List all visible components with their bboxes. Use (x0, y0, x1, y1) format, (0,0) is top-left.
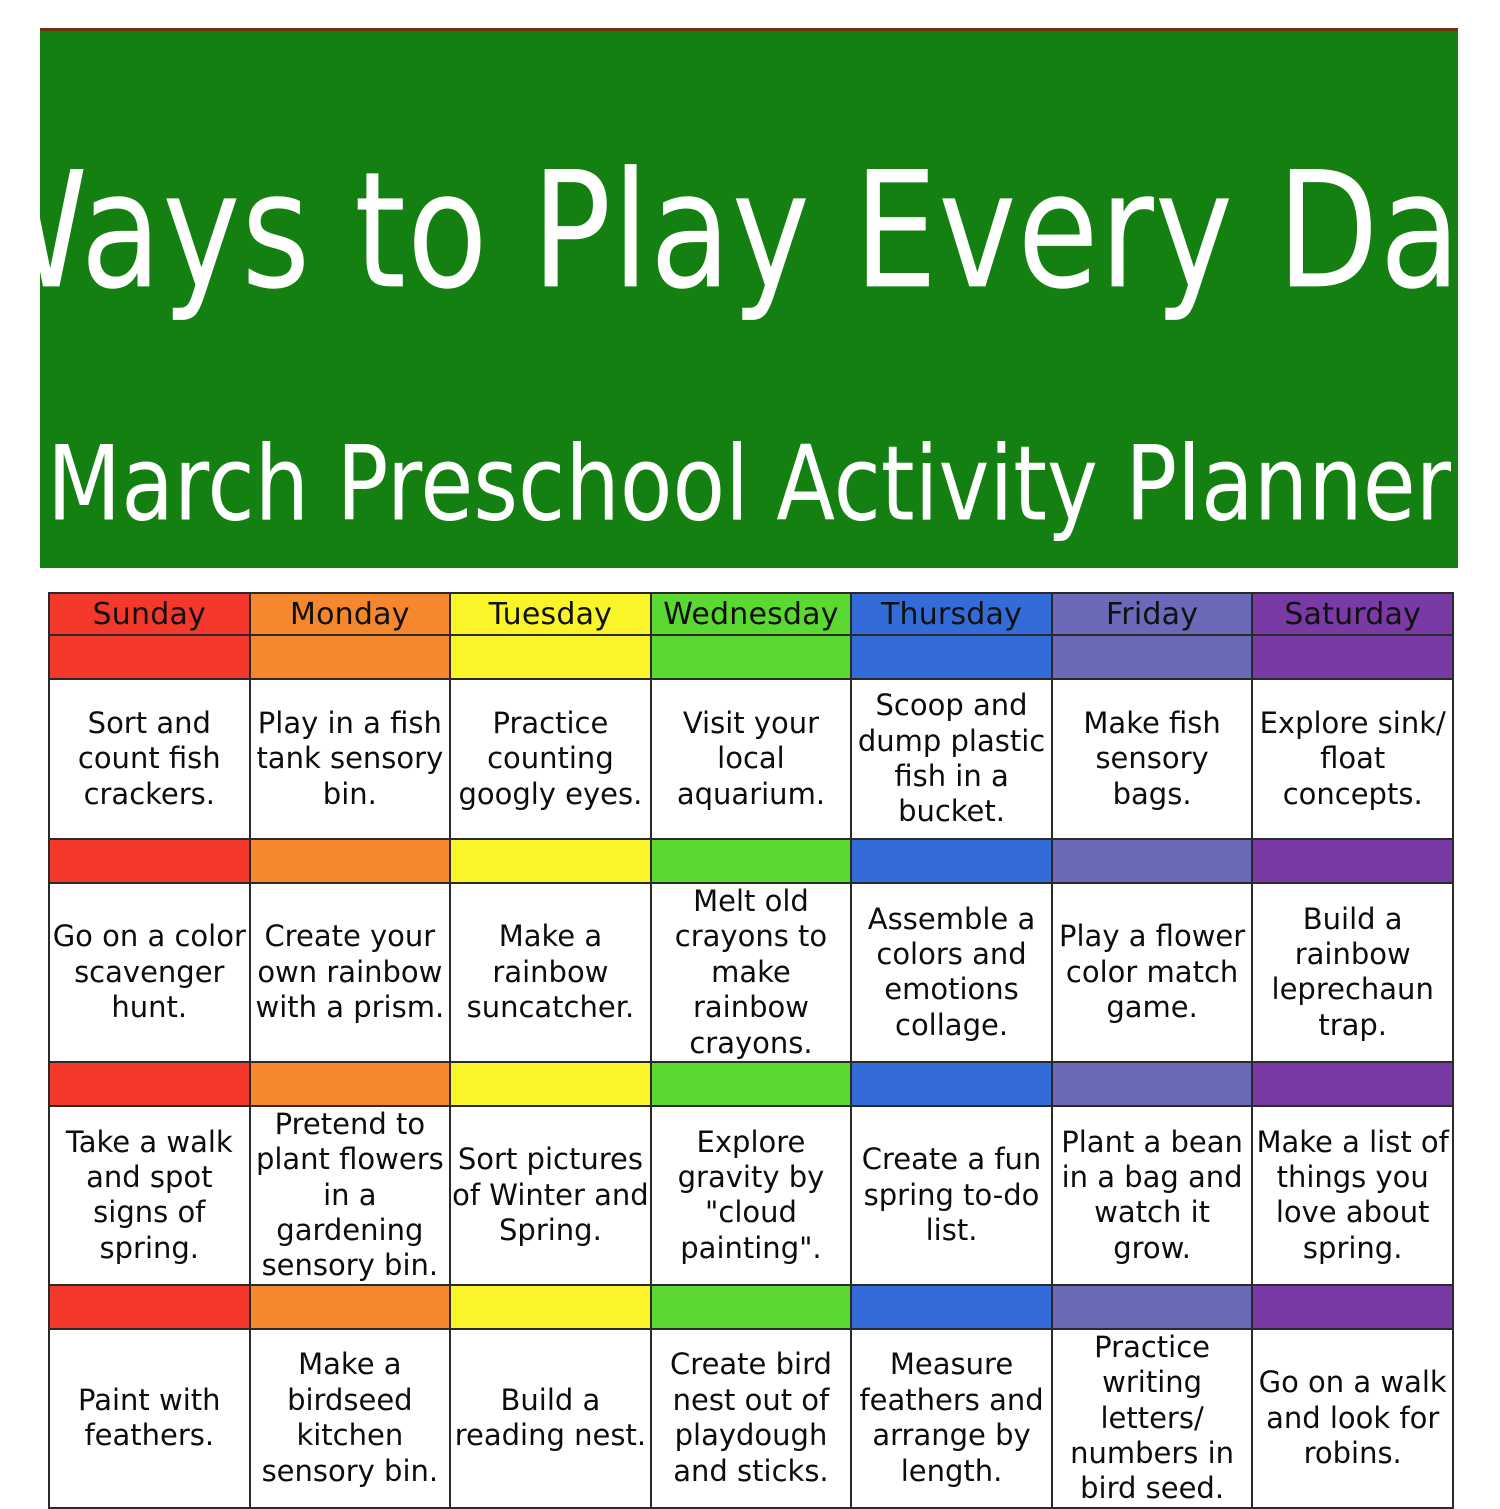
activity-text: Build a reading nest. (451, 1383, 650, 1454)
day-header-label: Tuesday (489, 597, 612, 632)
activity-cell[interactable]: Practice writing letters/ numbers in bir… (1052, 1329, 1253, 1508)
color-band-cell-sunday (49, 839, 250, 883)
activity-text: Explore sink/ float concepts. (1253, 706, 1452, 812)
activity-text: Build a rainbow leprechaun trap. (1253, 902, 1452, 1044)
activity-cell[interactable]: Scoop and dump plastic fish in a bucket. (851, 679, 1052, 839)
activity-text: Sort pictures of Winter and Spring. (451, 1142, 650, 1248)
activity-cell[interactable]: Explore sink/ float concepts. (1252, 679, 1453, 839)
activity-text: Make a rainbow suncatcher. (451, 919, 650, 1025)
activity-cell[interactable]: Build a reading nest. (450, 1329, 651, 1508)
activity-cell[interactable]: Make a birdseed kitchen sensory bin. (250, 1329, 451, 1508)
page-subtitle: March Preschool Activity Planner (47, 433, 1451, 536)
activity-calendar: SundayMondayTuesdayWednesdayThursdayFrid… (48, 592, 1454, 1509)
activity-text: Assemble a colors and emotions collage. (852, 902, 1051, 1044)
color-band-cell-friday (1052, 839, 1253, 883)
activity-text: Visit your local aquarium. (652, 706, 851, 812)
day-header-label: Saturday (1284, 597, 1421, 632)
color-band-cell-thursday (851, 839, 1052, 883)
color-band-cell-monday (250, 1062, 451, 1106)
activity-text: Create your own rainbow with a prism. (251, 919, 450, 1025)
color-band-cell-monday (250, 1285, 451, 1329)
color-band-cell-tuesday (450, 1285, 651, 1329)
activity-text: Pretend to plant flowers in a gardening … (251, 1107, 450, 1284)
day-header-label: Monday (290, 597, 410, 632)
activity-cell[interactable]: Explore gravity by "cloud painting". (651, 1106, 852, 1285)
color-band-cell-friday (1052, 635, 1253, 679)
activity-text: Plant a bean in a bag and watch it grow. (1053, 1125, 1252, 1267)
color-band-cell-tuesday (450, 839, 651, 883)
activity-cell[interactable]: Plant a bean in a bag and watch it grow. (1052, 1106, 1253, 1285)
activity-text: Play in a fish tank sensory bin. (251, 706, 450, 812)
activity-cell[interactable]: Make a rainbow suncatcher. (450, 883, 651, 1062)
activity-cell[interactable]: Go on a color scavenger hunt. (49, 883, 250, 1062)
color-band-cell-tuesday (450, 1062, 651, 1106)
color-band-row-0 (49, 635, 1453, 679)
activity-cell[interactable]: Make fish sensory bags. (1052, 679, 1253, 839)
activity-text: Melt old crayons to make rainbow crayons… (652, 884, 851, 1061)
activity-text: Take a walk and spot signs of spring. (50, 1125, 249, 1267)
activity-cell[interactable]: Sort and count fish crackers. (49, 679, 250, 839)
activity-text: Practice counting googly eyes. (451, 706, 650, 812)
color-band-cell-sunday (49, 1285, 250, 1329)
color-band-cell-thursday (851, 1062, 1052, 1106)
day-header-monday: Monday (250, 593, 451, 635)
activity-cell[interactable]: Pretend to plant flowers in a gardening … (250, 1106, 451, 1285)
calendar-header-row: SundayMondayTuesdayWednesdayThursdayFrid… (49, 593, 1453, 635)
color-band-cell-wednesday (651, 1285, 852, 1329)
activity-cell[interactable]: Create bird nest out of playdough and st… (651, 1329, 852, 1508)
color-band-cell-wednesday (651, 1062, 852, 1106)
color-band-cell-saturday (1252, 635, 1453, 679)
day-header-label: Friday (1106, 597, 1198, 632)
day-header-friday: Friday (1052, 593, 1253, 635)
activity-cell[interactable]: Build a rainbow leprechaun trap. (1252, 883, 1453, 1062)
activity-cell[interactable]: Create a fun spring to-do list. (851, 1106, 1052, 1285)
activity-text: Practice writing letters/ numbers in bir… (1053, 1330, 1252, 1507)
activity-text: Create a fun spring to-do list. (852, 1142, 1051, 1248)
activity-text: Play a flower color match game. (1053, 919, 1252, 1025)
activity-cell[interactable]: Measure feathers and arrange by length. (851, 1329, 1052, 1508)
activity-cell[interactable]: Sort pictures of Winter and Spring. (450, 1106, 651, 1285)
color-band-cell-friday (1052, 1062, 1253, 1106)
activity-text: Paint with feathers. (50, 1383, 249, 1454)
page-title: Ways to Play Every Day (0, 151, 1500, 312)
activity-text: Measure feathers and arrange by length. (852, 1347, 1051, 1489)
table-row: Go on a color scavenger hunt.Create your… (49, 883, 1453, 1062)
activity-cell[interactable]: Play in a fish tank sensory bin. (250, 679, 451, 839)
table-row: Take a walk and spot signs of spring.Pre… (49, 1106, 1453, 1285)
day-header-label: Sunday (93, 597, 206, 632)
color-band-cell-tuesday (450, 635, 651, 679)
activity-cell[interactable]: Make a list of things you love about spr… (1252, 1106, 1453, 1285)
activity-text: Scoop and dump plastic fish in a bucket. (852, 688, 1051, 830)
color-band-cell-saturday (1252, 1285, 1453, 1329)
day-header-tuesday: Tuesday (450, 593, 651, 635)
color-band-cell-wednesday (651, 635, 852, 679)
activity-cell[interactable]: Practice counting googly eyes. (450, 679, 651, 839)
activity-text: Explore gravity by "cloud painting". (652, 1125, 851, 1267)
activity-cell[interactable]: Assemble a colors and emotions collage. (851, 883, 1052, 1062)
activity-cell[interactable]: Go on a walk and look for robins. (1252, 1329, 1453, 1508)
day-header-thursday: Thursday (851, 593, 1052, 635)
table-row: Sort and count fish crackers.Play in a f… (49, 679, 1453, 839)
activity-cell[interactable]: Create your own rainbow with a prism. (250, 883, 451, 1062)
color-band-cell-saturday (1252, 1062, 1453, 1106)
color-band-cell-wednesday (651, 839, 852, 883)
day-header-sunday: Sunday (49, 593, 250, 635)
color-band-cell-sunday (49, 635, 250, 679)
activity-text: Make fish sensory bags. (1053, 706, 1252, 812)
activity-planner-page: Ways to Play Every Day March Preschool A… (0, 0, 1500, 1500)
color-band-row-1 (49, 839, 1453, 883)
activity-text: Create bird nest out of playdough and st… (652, 1347, 851, 1489)
activity-text: Go on a color scavenger hunt. (50, 919, 249, 1025)
color-band-cell-thursday (851, 635, 1052, 679)
activity-cell[interactable]: Paint with feathers. (49, 1329, 250, 1508)
day-header-label: Thursday (881, 597, 1022, 632)
activity-cell[interactable]: Take a walk and spot signs of spring. (49, 1106, 250, 1285)
color-band-row-3 (49, 1285, 1453, 1329)
day-header-label: Wednesday (663, 597, 839, 632)
activity-cell[interactable]: Visit your local aquarium. (651, 679, 852, 839)
color-band-cell-thursday (851, 1285, 1052, 1329)
table-row: Paint with feathers.Make a birdseed kitc… (49, 1329, 1453, 1508)
activity-text: Make a birdseed kitchen sensory bin. (251, 1347, 450, 1489)
color-band-cell-sunday (49, 1062, 250, 1106)
day-header-wednesday: Wednesday (651, 593, 852, 635)
color-band-cell-monday (250, 839, 451, 883)
title-banner: Ways to Play Every Day March Preschool A… (40, 28, 1458, 568)
color-band-row-2 (49, 1062, 1453, 1106)
color-band-cell-friday (1052, 1285, 1253, 1329)
activity-text: Make a list of things you love about spr… (1253, 1125, 1452, 1267)
activity-cell[interactable]: Play a flower color match game. (1052, 883, 1253, 1062)
color-band-cell-saturday (1252, 839, 1453, 883)
day-header-saturday: Saturday (1252, 593, 1453, 635)
color-band-cell-monday (250, 635, 451, 679)
activity-text: Sort and count fish crackers. (50, 706, 249, 812)
activity-cell[interactable]: Melt old crayons to make rainbow crayons… (651, 883, 852, 1062)
activity-text: Go on a walk and look for robins. (1253, 1365, 1452, 1471)
